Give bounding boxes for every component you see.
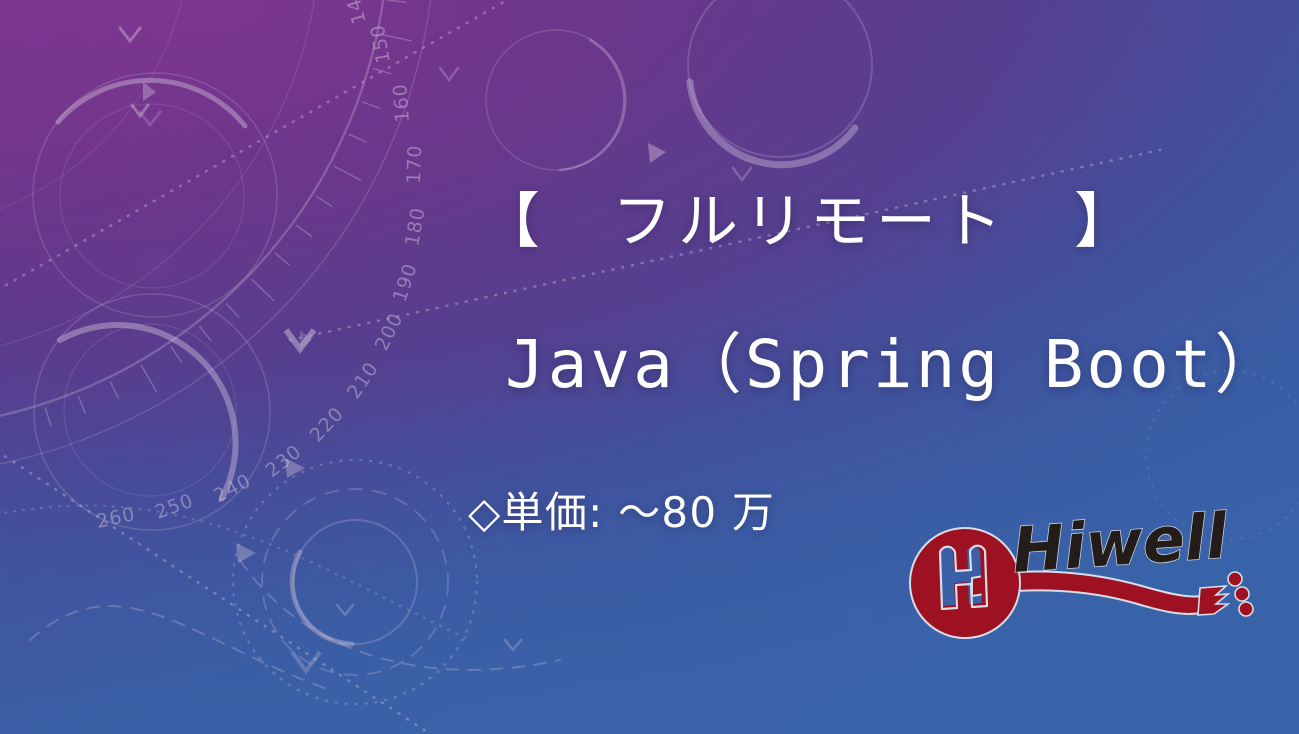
tech-stack-label: Java（Spring Boot） — [505, 332, 1265, 398]
banner-canvas: 140 150 160 170 180 190 200 210 220 230 … — [0, 0, 1299, 734]
logo-monogram-disc — [910, 528, 1020, 638]
page-title: 【 フルリモート 】 — [480, 192, 1260, 252]
logo-people-mark — [1198, 572, 1253, 616]
logo-wordmark: Hiwell — [1010, 500, 1230, 587]
hiwell-logo[interactable]: Hiwell — [902, 500, 1272, 645]
unit-price-label: ◇単価: ～80 万 — [468, 492, 775, 534]
